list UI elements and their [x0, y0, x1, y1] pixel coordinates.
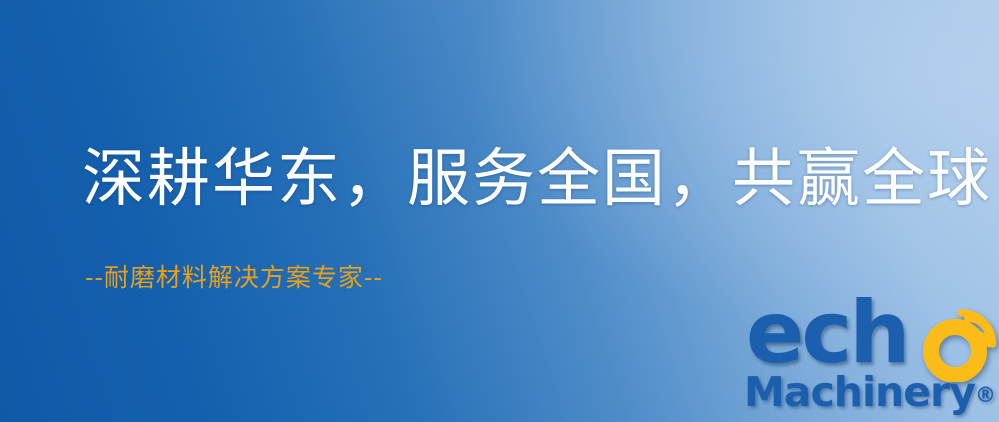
banner-subtitle: --耐磨材料解决方案专家--	[85, 265, 383, 290]
logo-machinery-word: Machinery	[744, 368, 975, 416]
registered-trademark-icon: ®	[975, 383, 996, 407]
echo-machinery-logo: ech Machinery®	[742, 296, 999, 422]
logo-text-machinery: Machinery®	[744, 372, 996, 413]
banner-headline: 深耕华东，服务全国，共赢全球	[82, 147, 992, 210]
hero-banner: 深耕华东，服务全国，共赢全球 --耐磨材料解决方案专家-- ech Machin…	[0, 0, 999, 422]
logo-text-ech: ech	[746, 290, 908, 376]
